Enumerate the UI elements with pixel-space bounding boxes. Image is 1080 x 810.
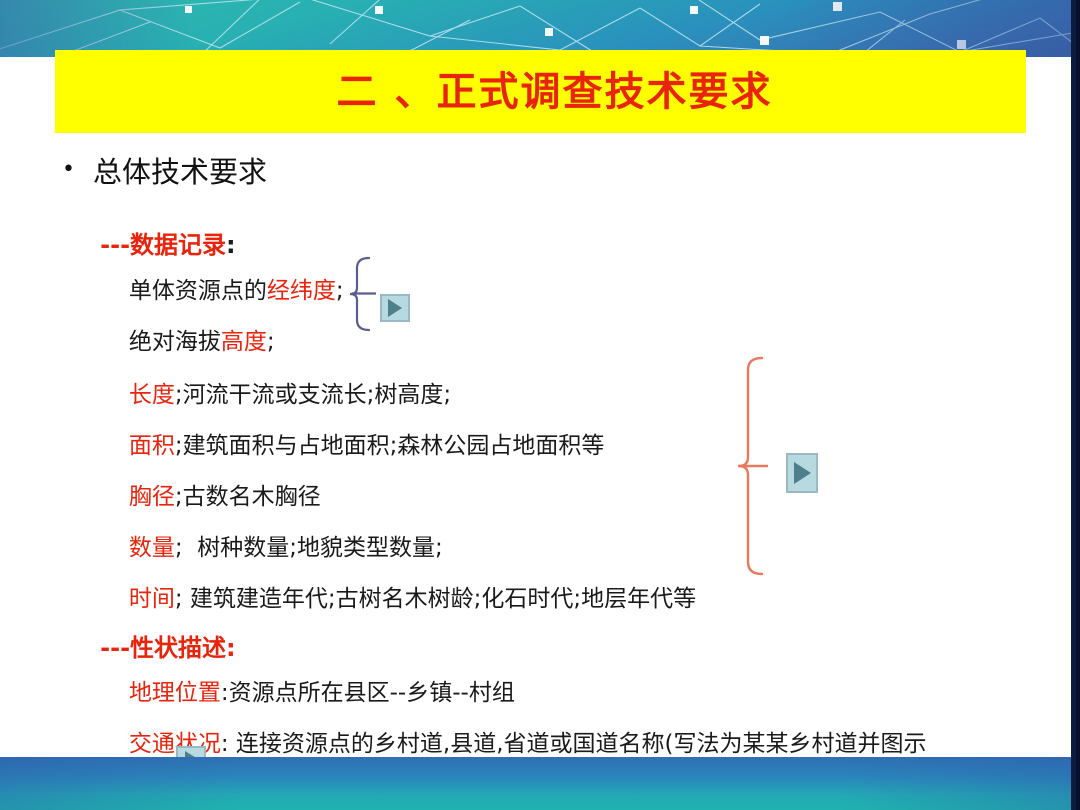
play-triangle-icon [388,299,402,317]
bullet-marker-icon: • [62,159,75,181]
item-keyword: 长度 [129,382,175,408]
play-button-data-record[interactable] [380,294,410,322]
slide-body: • 总体技术要求 ---数据记录: 单体资源点的经纬度; 绝对海拔高度; 长度;… [0,133,1080,753]
item-text-rest: : 连接资源点的乡村道,县道,省道或国道名称(写法为某某乡村道并图示 [221,731,927,757]
item-keyword: 地理位置 [129,680,221,706]
item-text-rest: ;河流干流或支流长;树高度; [175,382,451,408]
item-text-rest: ; 建筑建造年代;古树名木树龄;化石时代;地层年代等 [175,586,696,612]
heading-text: 数据记录 [130,231,226,259]
brace-tick-data-record [352,291,376,296]
item-keyword: 时间 [129,586,175,612]
bottom-band-shade [0,757,1080,810]
item-text-rest: :资源点所在县区--乡镇--村组 [221,680,515,706]
bullet-label: 总体技术要求 [93,149,267,191]
bullet-overall-requirements: • 总体技术要求 [62,149,267,191]
play-button-measurement[interactable] [786,453,818,493]
brace-measurement-group [738,355,768,577]
bottom-decorative-band [0,757,1080,810]
item-text-rest: ;建筑面积与占地面积;森林公园占地面积等 [175,433,605,459]
item-keyword: 数量 [129,535,175,561]
item-text-rest: ;古数名木胸径 [175,484,321,510]
right-edge-strip-outer [1076,0,1080,810]
slide: 二 、正式调查技术要求 • 总体技术要求 ---数据记录: 单体资源点的经纬度;… [0,0,1080,810]
item-text-prefix: 绝对海拔 [129,329,221,355]
heading-dashes: --- [100,231,130,259]
page-title: 二 、正式调查技术要求 [337,72,773,112]
top-decorative-band [0,0,1080,57]
heading-colon: : [226,231,236,259]
item-text-rest: ; [336,278,344,304]
item-text-rest: ; 树种数量;地貌类型数量; [175,535,443,561]
heading-colon: : [226,634,236,662]
item-keyword: 高度 [221,329,267,355]
item-keyword: 胸径 [129,484,175,510]
item-text-rest: ; [267,329,275,355]
item-keyword: 面积 [129,433,175,459]
item-text-prefix: 单体资源点的 [129,278,267,304]
heading-dashes: --- [100,634,130,662]
slide-title-bar: 二 、正式调查技术要求 [55,50,1026,133]
top-band-shade [0,0,1080,57]
item-keyword: 经纬度 [267,278,336,304]
heading-text: 性状描述 [130,634,226,662]
play-triangle-icon [794,462,811,484]
